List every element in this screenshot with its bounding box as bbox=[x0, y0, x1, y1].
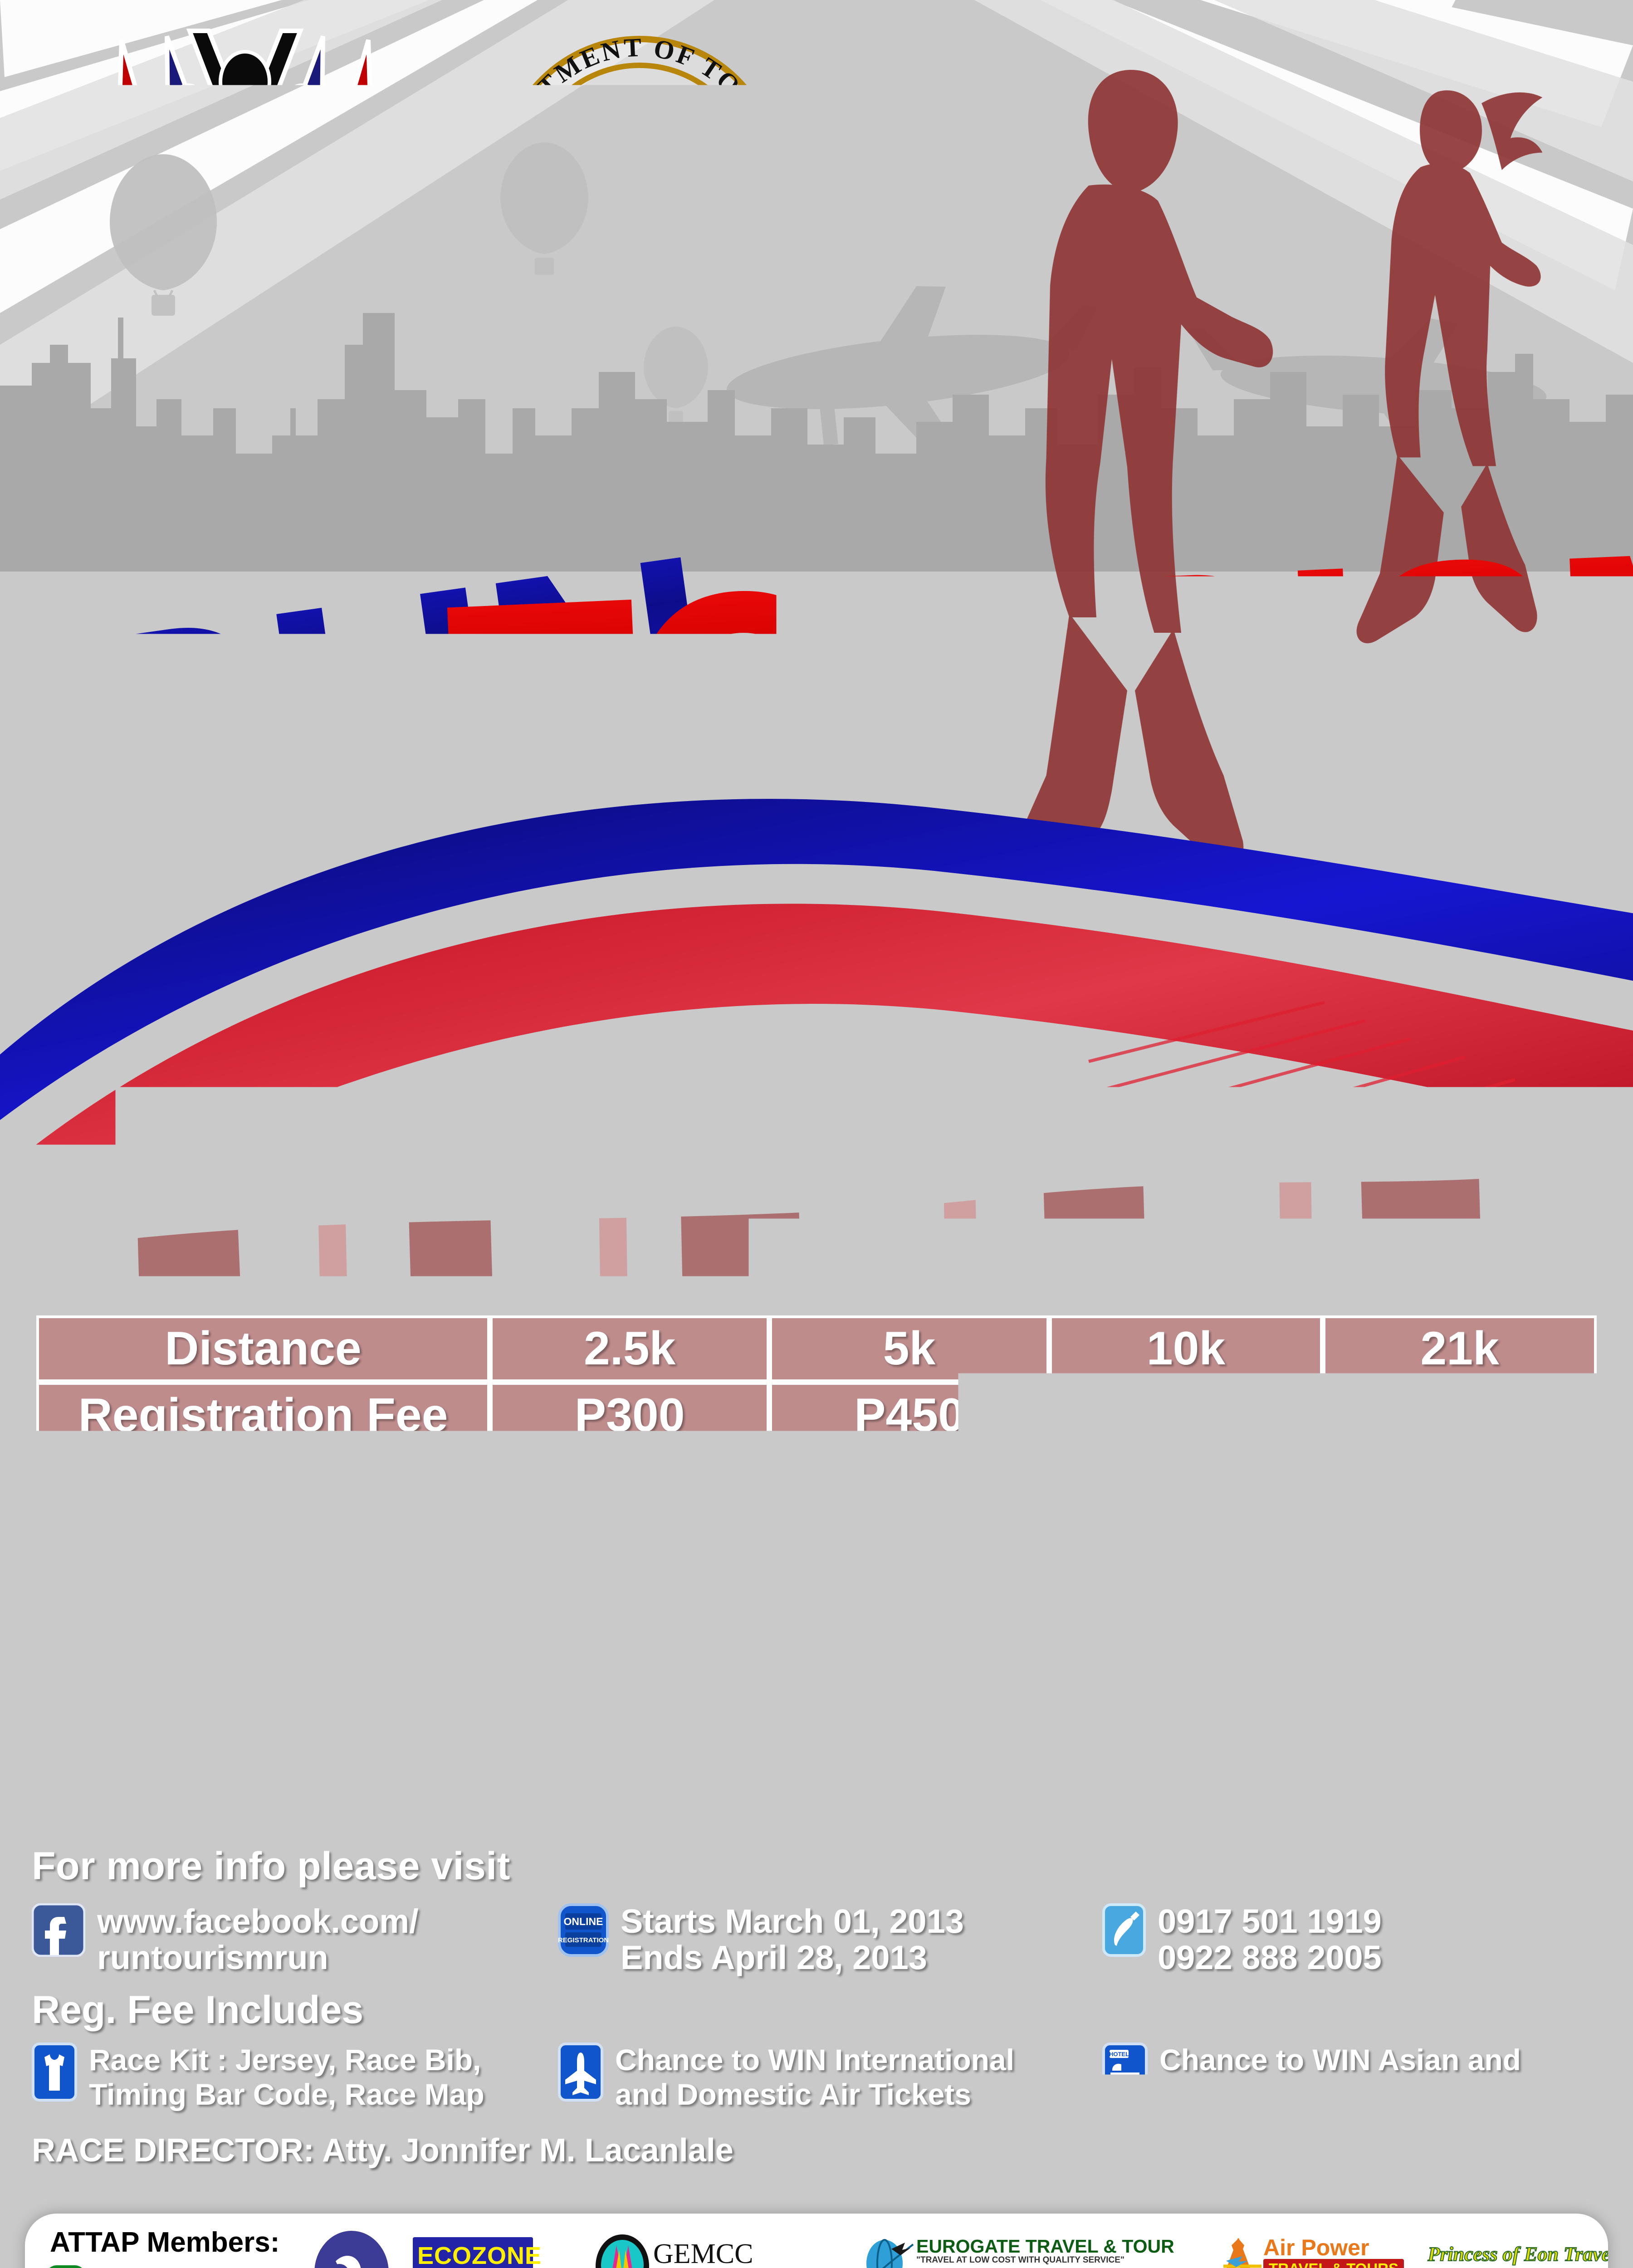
dot-philippines-seal-icon: DEPARTMENT OF TOURISM PHILIPPINES bbox=[494, 32, 785, 322]
air-tickets-line1: Chance to WIN International bbox=[615, 2043, 1014, 2077]
sponsor-logo-global-access-mark: GATT bbox=[39, 2263, 93, 2268]
race-kit-line1: Race Kit : Jersey, Race Bib, bbox=[89, 2043, 484, 2077]
svg-text:HOTEL: HOTEL bbox=[1109, 2051, 1129, 2058]
prize-rank: 2nd bbox=[1086, 1630, 1145, 1671]
cell-distance-3: 21k bbox=[1323, 1315, 1597, 1382]
includes-row: Race Kit : Jersey, Race Bib, Timing Bar … bbox=[32, 2043, 1610, 2112]
cell-assembly-1: 4:45pm bbox=[769, 1449, 1049, 1515]
cell-prizes-0: Gift Pack for 12yrs old below bbox=[490, 1582, 769, 1719]
prize-rank: 3rd bbox=[1086, 1671, 1145, 1712]
row-label-registration-fee: Registration Fee bbox=[36, 1382, 490, 1449]
cell-gun-1: 5:00pm bbox=[769, 1515, 1049, 1582]
includes-land-arrangement: HOTEL Chance to WIN Asian and Domestic L… bbox=[1102, 2043, 1592, 2112]
cell-fee-0: P300 bbox=[490, 1382, 769, 1449]
cell-award-0: Certificate bbox=[490, 1719, 769, 1779]
cell-distance-1: 5k bbox=[769, 1315, 1049, 1382]
svg-text:Clark Parade Grounds, May 11,: Clark Parade Grounds, May 11, 2013, 400 … bbox=[41, 1175, 1633, 1270]
prize-amount: P10,000 bbox=[1433, 1589, 1560, 1630]
cell-prizes-2: 1stP5000 2ndP3000 3rdP2000 bbox=[1049, 1582, 1323, 1719]
cell-distance-0: 2.5k bbox=[490, 1315, 769, 1382]
prize-amount: P3000 bbox=[882, 1589, 1009, 1630]
attap-emblem-icon bbox=[68, 27, 422, 240]
online-registration-contact: ONLINE REGISTRATION Starts March 01, 201… bbox=[558, 1903, 1102, 1976]
more-info-heading: For more info please visit bbox=[32, 1844, 1610, 1889]
cell-assembly-3: 3:45pm bbox=[1323, 1449, 1597, 1515]
prize-rank: 3rd bbox=[1360, 1671, 1419, 1712]
land-arrangement-line2: Domestic Land Arrangement bbox=[1159, 2077, 1568, 2112]
cell-gun-2: 4:30pm bbox=[1049, 1515, 1323, 1582]
cell-award-3: Medal bbox=[1323, 1719, 1597, 1779]
sponsor-logo-airpower-a-icon bbox=[1218, 2235, 1268, 2268]
cell-fee-1: P450 bbox=[769, 1382, 1049, 1449]
race-kit-text: Race Kit : Jersey, Race Bib, Timing Bar … bbox=[89, 2043, 484, 2112]
attap-members-panel: ATTAP Members: GATT GLOBAL ACCESS TRAVEL… bbox=[25, 2214, 1608, 2268]
svg-text:REGISTRATION: REGISTRATION bbox=[558, 1936, 609, 1944]
phone-number-2: 0922 888 2005 bbox=[1158, 1940, 1382, 1976]
race-details-table: Distance 2.5k 5k 10k 21k Registration Fe… bbox=[36, 1315, 1597, 1779]
gift-pack-line-3: below bbox=[497, 1671, 762, 1712]
info-section: For more info please visit www.facebook.… bbox=[32, 1844, 1610, 2112]
prize-rank: 1st bbox=[1086, 1589, 1145, 1630]
hotel-icon: HOTEL bbox=[1102, 2043, 1148, 2104]
cell-award-1: Certificate bbox=[769, 1719, 1049, 1779]
jersey-icon bbox=[32, 2043, 77, 2104]
facebook-contact[interactable]: www.facebook.com/ runtourismrun bbox=[32, 1903, 558, 1976]
race-kit-line2: Timing Bar Code, Race Map bbox=[89, 2077, 484, 2112]
sponsors-grid: GATT GLOBAL ACCESS TRAVEL & TOURS YOUR G… bbox=[25, 2214, 1608, 2268]
registration-end-date: Ends April 28, 2013 bbox=[621, 1940, 964, 1976]
prize-amount: P5000 bbox=[1433, 1630, 1560, 1671]
attap-acronym: ATTAP bbox=[68, 236, 422, 300]
prize-amount: P2000 bbox=[882, 1630, 1009, 1671]
sponsor-logo-eurogate-globe-icon bbox=[860, 2236, 914, 2268]
prize-amount: P1000 bbox=[882, 1671, 1009, 1712]
cell-fee-2: P650 bbox=[1049, 1382, 1323, 1449]
facebook-url-line2[interactable]: runtourismrun bbox=[97, 1940, 419, 1976]
table-row-assembly-time: Assembly Time 5:15pm 4:45pm 4:15pm 3:45p… bbox=[36, 1449, 1597, 1515]
sponsor-logo-infinity-mark bbox=[313, 2229, 390, 2268]
cell-prizes-3: 1stP10,000 2ndP5000 3rdP3000 bbox=[1323, 1582, 1597, 1719]
land-arrangement-text: Chance to WIN Asian and Domestic Land Ar… bbox=[1159, 2043, 1568, 2112]
prize-rank: 3rd bbox=[810, 1671, 869, 1712]
facebook-url-block[interactable]: www.facebook.com/ runtourismrun bbox=[97, 1903, 419, 1976]
organizer-logos: ATTAP Alliance of Travel and Tour Agenci… bbox=[68, 27, 785, 352]
prize-rank: 2nd bbox=[810, 1630, 869, 1671]
phone-contact: 0917 501 1919 0922 888 2005 bbox=[1102, 1903, 1592, 1976]
includes-race-kit: Race Kit : Jersey, Race Bib, Timing Bar … bbox=[32, 2043, 558, 2112]
prize-rank: 1st bbox=[810, 1589, 869, 1630]
cell-assembly-0: 5:15pm bbox=[490, 1449, 769, 1515]
gift-pack-line-2: 12yrs old bbox=[497, 1630, 762, 1671]
row-label-assembly-time: Assembly Time bbox=[36, 1449, 490, 1515]
facebook-url-line1[interactable]: www.facebook.com/ bbox=[97, 1903, 419, 1940]
reg-fee-includes-heading: Reg. Fee Includes bbox=[32, 1988, 1610, 2033]
cell-gun-3: 4:00pm bbox=[1323, 1515, 1597, 1582]
gift-pack-line-1: Gift Pack for bbox=[497, 1589, 762, 1630]
facebook-icon[interactable] bbox=[32, 1903, 85, 1959]
row-label-distance: Distance bbox=[36, 1315, 490, 1382]
phone-number-1: 0917 501 1919 bbox=[1158, 1903, 1382, 1940]
table-row-distance: Distance 2.5k 5k 10k 21k bbox=[36, 1315, 1597, 1382]
cell-gun-0: 5:30pm bbox=[490, 1515, 769, 1582]
registration-dates-block: Starts March 01, 2013 Ends April 28, 201… bbox=[621, 1903, 964, 1976]
sponsor-princess-of-eon: Princess of Eon Travel bbox=[1422, 2244, 1608, 2264]
cell-distance-2: 10k bbox=[1049, 1315, 1323, 1382]
phone-pen-icon bbox=[1102, 1903, 1146, 1959]
sponsor-air-power: Air Power TRAVEL & TOURS bbox=[1263, 2236, 1413, 2268]
table-row-prizes: Prizes Gift Pack for 12yrs old below 1st… bbox=[36, 1582, 1597, 1719]
table-row-gun-start: Gun Start 5:30pm 5:00pm 4:30pm 4:00pm bbox=[36, 1515, 1597, 1582]
includes-air-tickets: Chance to WIN International and Domestic… bbox=[558, 2043, 1102, 2112]
row-label-gun-start: Gun Start bbox=[36, 1515, 490, 1582]
svg-text:ONLINE: ONLINE bbox=[564, 1916, 603, 1927]
phone-numbers-block: 0917 501 1919 0922 888 2005 bbox=[1158, 1903, 1382, 1976]
table-row-registration-fee: Registration Fee P300 P450 P650 P850 bbox=[36, 1382, 1597, 1449]
race-director-line: RACE DIRECTOR: Atty. Jonnifer M. Lacanla… bbox=[32, 2132, 733, 2169]
row-label-prizes: Prizes bbox=[36, 1582, 490, 1779]
land-arrangement-line1: Chance to WIN Asian and bbox=[1159, 2043, 1568, 2077]
venue-art: Clark Parade Grounds, May 11, 2013, 400 … bbox=[41, 1175, 1633, 1270]
prize-amount: P3000 bbox=[1433, 1671, 1560, 1712]
prize-rank: 1st bbox=[1360, 1589, 1419, 1630]
prize-rank: 2nd bbox=[1360, 1630, 1419, 1671]
registration-start-date: Starts March 01, 2013 bbox=[621, 1903, 964, 1940]
cell-fee-3: P850 bbox=[1323, 1382, 1597, 1449]
contact-row: www.facebook.com/ runtourismrun ONLINE R… bbox=[32, 1903, 1610, 1976]
prize-amount: P3000 bbox=[1159, 1630, 1286, 1671]
attap-logo: ATTAP Alliance of Travel and Tour Agenci… bbox=[68, 27, 422, 352]
prize-amount: P5000 bbox=[1159, 1589, 1286, 1630]
cell-award-2: Medal bbox=[1049, 1719, 1323, 1779]
attap-full-name: Alliance of Travel and Tour Agencies of … bbox=[68, 303, 422, 352]
online-registration-icon: ONLINE REGISTRATION bbox=[558, 1903, 609, 1959]
sponsor-ecozone: ECOZONE travel and tours bbox=[413, 2237, 533, 2268]
airplane-icon bbox=[558, 2043, 603, 2104]
sponsor-gemcc: GEMCC Travel Light & Tours bbox=[653, 2240, 803, 2268]
race-details-table-wrapper: Distance 2.5k 5k 10k 21k Registration Fe… bbox=[36, 1315, 1597, 1779]
poster-canvas: RUN TOURISM RUN 2013 DOT'S on the Run @ … bbox=[0, 0, 1633, 2268]
air-tickets-text: Chance to WIN International and Domestic… bbox=[615, 2043, 1014, 2112]
sponsor-logo-gemcc-balloon-icon bbox=[593, 2232, 652, 2268]
air-tickets-line2: and Domestic Air Tickets bbox=[615, 2077, 1014, 2112]
sponsor-eurogate: EUROGATE TRAVEL & TOUR "TRAVEL AT LOW CO… bbox=[916, 2237, 1198, 2268]
cell-assembly-2: 4:15pm bbox=[1049, 1449, 1323, 1515]
prize-amount: P2000 bbox=[1159, 1671, 1286, 1712]
cell-prizes-1: 1stP3000 2ndP2000 3rdP1000 bbox=[769, 1582, 1049, 1719]
